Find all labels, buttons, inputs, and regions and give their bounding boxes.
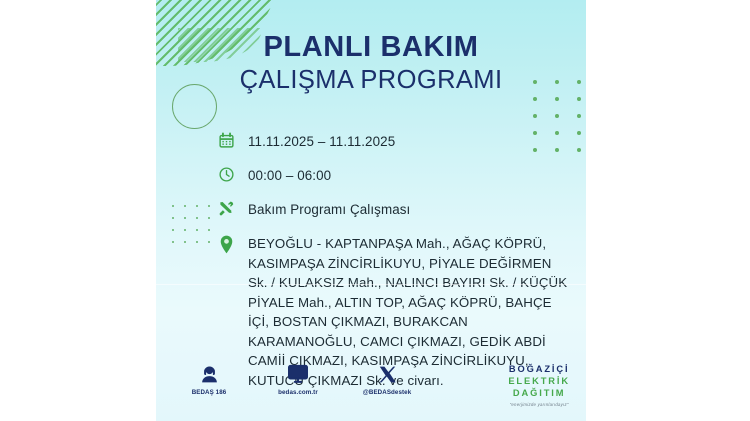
date-range-text: 11.11.2025 – 11.11.2025 — [248, 131, 395, 151]
contact-label-twitter: @BEDASdestek — [363, 389, 412, 396]
info-list: 11.11.2025 – 11.11.2025 00:00 – 06:00 — [218, 131, 570, 390]
footer: BEDAŞ 186 bedas.com.tr — [156, 362, 586, 410]
map-pin-icon — [218, 233, 248, 254]
info-row-date: 11.11.2025 – 11.11.2025 — [218, 131, 570, 151]
announcement-card: PLANLI BAKIM ÇALIŞMA PROGRAMI 11 — [156, 0, 586, 421]
brand-line-1: BOĞAZİÇİ — [508, 364, 570, 376]
info-row-work: Bakım Programı Çalışması — [218, 199, 570, 219]
clock-icon — [218, 165, 248, 183]
brand-line-2: ELEKTRİK — [508, 376, 570, 388]
work-type-text: Bakım Programı Çalışması — [248, 199, 410, 219]
contact-item-twitter[interactable]: @BEDASdestek — [358, 362, 416, 396]
page-title: PLANLI BAKIM ÇALIŞMA PROGRAMI — [156, 32, 586, 96]
poster-root: PLANLI BAKIM ÇALIŞMA PROGRAMI 11 — [0, 0, 750, 421]
calendar-icon — [218, 131, 248, 149]
brand-tagline: "enerjimizde yarınlarıdayız" — [508, 402, 570, 407]
contact-item-phone[interactable]: BEDAŞ 186 — [180, 362, 238, 396]
contact-label-phone: BEDAŞ 186 — [192, 389, 227, 396]
contact-list: BEDAŞ 186 bedas.com.tr — [180, 362, 416, 396]
contact-label-website: bedas.com.tr — [278, 389, 318, 396]
tools-icon — [218, 199, 248, 217]
dot-grid-left-decoration — [172, 205, 220, 253]
contact-item-website[interactable]: bedas.com.tr — [269, 362, 327, 396]
x-twitter-icon — [378, 362, 397, 386]
brand-line-3: DAĞITIM — [508, 388, 570, 400]
support-agent-icon — [199, 362, 220, 386]
time-range-text: 00:00 – 06:00 — [248, 165, 331, 185]
title-main: PLANLI BAKIM — [156, 32, 586, 63]
brand-logo: BOĞAZİÇİ ELEKTRİK DAĞITIM "enerjimizde y… — [508, 364, 570, 407]
title-subtitle: ÇALIŞMA PROGRAMI — [156, 66, 586, 95]
info-row-time: 00:00 – 06:00 — [218, 165, 570, 185]
monitor-icon — [287, 362, 309, 386]
